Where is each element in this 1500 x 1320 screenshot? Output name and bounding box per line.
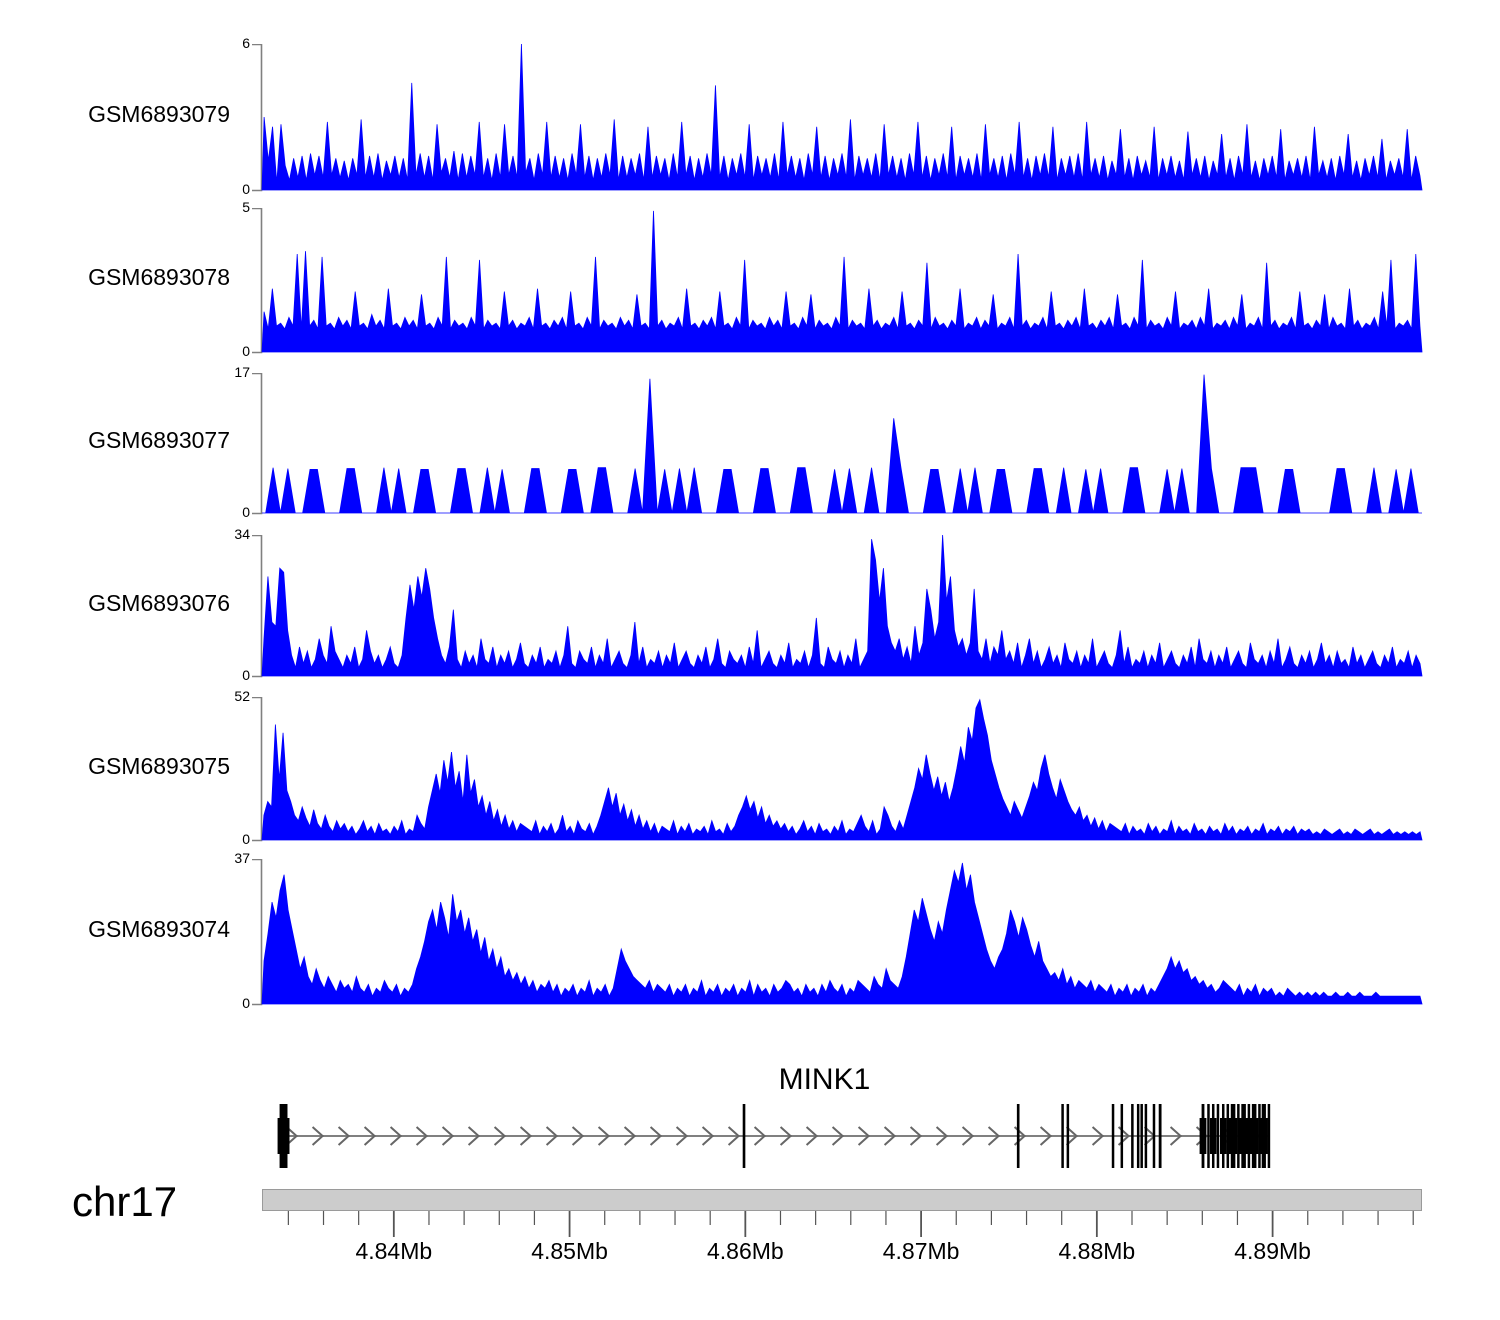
ideogram-bar — [262, 1189, 1422, 1211]
exon-marker[interactable] — [1237, 1104, 1240, 1168]
coverage-plot-GSM6893075 — [0, 697, 1442, 844]
coverage-plot-GSM6893078 — [0, 208, 1442, 356]
axis-tick-label: 4.89Mb — [1203, 1238, 1343, 1265]
exon-marker[interactable] — [1121, 1104, 1124, 1168]
coverage-area — [262, 44, 1422, 190]
exon-block[interactable] — [1220, 1118, 1227, 1154]
y-axis — [252, 860, 262, 1005]
exon-marker[interactable] — [1159, 1104, 1162, 1168]
coverage-area — [262, 211, 1422, 352]
exon-marker[interactable] — [1207, 1104, 1210, 1168]
axis-tick-label: 4.84Mb — [324, 1238, 464, 1265]
y-axis — [252, 374, 262, 514]
exon-block[interactable] — [1200, 1118, 1207, 1154]
y-axis — [252, 45, 262, 191]
y-axis — [252, 698, 262, 841]
exon-marker[interactable] — [1217, 1104, 1220, 1168]
exon-marker[interactable] — [1227, 1104, 1230, 1168]
coverage-plot-GSM6893079 — [0, 44, 1442, 194]
exon-block[interactable] — [278, 1118, 290, 1154]
exon-marker[interactable] — [1112, 1104, 1115, 1168]
coverage-plot-GSM6893074 — [0, 859, 1442, 1008]
coverage-area — [262, 375, 1422, 513]
coverage-area — [262, 863, 1422, 1004]
gene-model-track[interactable] — [0, 1100, 1442, 1178]
exon-marker[interactable] — [1061, 1104, 1064, 1168]
exon-marker[interactable] — [1153, 1104, 1156, 1168]
coverage-area — [262, 700, 1422, 840]
exon-marker[interactable] — [1067, 1104, 1070, 1168]
exon-block[interactable] — [1229, 1118, 1238, 1154]
y-axis — [252, 536, 262, 677]
coverage-area — [262, 535, 1422, 676]
axis-tick-label: 4.85Mb — [500, 1238, 640, 1265]
coverage-plot-GSM6893077 — [0, 373, 1442, 517]
axis-tick-label: 4.88Mb — [1027, 1238, 1167, 1265]
exon-marker[interactable] — [1145, 1104, 1148, 1168]
exon-marker[interactable] — [743, 1104, 746, 1168]
gene-name-label: MINK1 — [674, 1063, 974, 1097]
exon-block[interactable] — [1250, 1118, 1259, 1154]
exon-block[interactable] — [1210, 1118, 1217, 1154]
exon-marker[interactable] — [1137, 1104, 1140, 1168]
y-axis — [252, 209, 262, 353]
genome-browser: GSM689307960GSM689307850GSM6893077170GSM… — [0, 0, 1500, 1320]
exon-marker[interactable] — [1131, 1104, 1134, 1168]
exon-block[interactable] — [1260, 1118, 1268, 1154]
axis-tick-label: 4.87Mb — [851, 1238, 991, 1265]
exon-marker[interactable] — [1017, 1104, 1020, 1168]
exon-marker[interactable] — [1140, 1104, 1143, 1168]
axis-tick-label: 4.86Mb — [675, 1238, 815, 1265]
exon-marker[interactable] — [1268, 1104, 1271, 1168]
coverage-plot-GSM6893076 — [0, 535, 1442, 680]
